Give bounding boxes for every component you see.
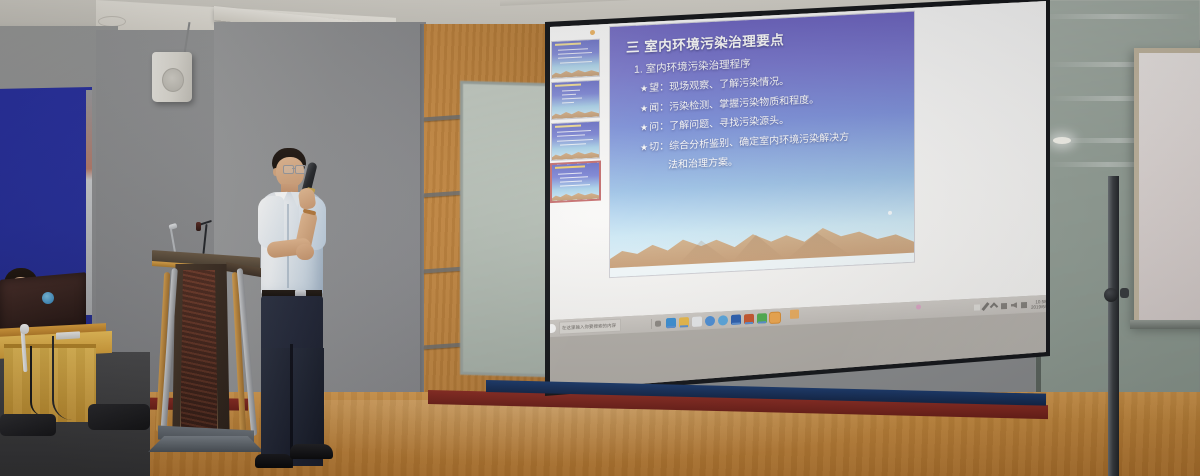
slide-bullet-list: ★望：现场观察、了解污染情况。 ★闻：污染检测、掌握污染物质和程度。 ★问：了解… [640, 66, 910, 177]
thumbnail-mountain-graphic [552, 108, 599, 119]
volume-icon[interactable] [1011, 302, 1017, 308]
taskbar-app-store[interactable] [692, 316, 702, 327]
slide-thumbnail-panel[interactable] [552, 40, 599, 292]
slide-thumbnail-4[interactable] [552, 163, 599, 201]
star-icon: ★ [640, 122, 648, 132]
taskbar-app-browser[interactable] [705, 315, 715, 326]
taskbar-app-powerpoint[interactable] [744, 313, 754, 324]
tray-hidden-icons[interactable] [974, 304, 980, 310]
banner-edge-strip [86, 90, 92, 315]
star-icon: ★ [640, 142, 648, 152]
glass-reflection-streak [1040, 14, 1190, 19]
chevron-up-icon[interactable] [990, 302, 998, 310]
laptop-logo-icon [42, 292, 54, 304]
presenter-leg-left [261, 348, 291, 466]
taskbar-app-list[interactable] [666, 312, 780, 328]
thumbnail-text-line [560, 184, 590, 187]
presenter-shoe-left [255, 454, 293, 468]
slide-thumbnail-2[interactable] [552, 81, 599, 119]
thumbnail-title-bar [555, 84, 581, 87]
taskbar-app-wechat[interactable] [757, 313, 767, 324]
bullet-text: 望：现场观察、了解污染情况。 [649, 76, 789, 94]
thumbnail-mountain-graphic [552, 149, 599, 160]
taskbar-tray[interactable]: 10:58 2019/6/19 [974, 298, 1050, 313]
taskbar-app-chrome[interactable] [718, 315, 728, 326]
thumbnail-mountain-graphic [552, 67, 599, 78]
bullet-text: 问：了解问题、寻找污染源头。 [649, 115, 789, 133]
bullet-text: 闻：污染检测、掌握污染物质和程度。 [649, 94, 819, 114]
eyeglass-lens-right [295, 165, 306, 174]
thumbnail-text-line [557, 134, 585, 137]
av-cable [52, 336, 76, 420]
thumbnail-text-line [560, 181, 582, 184]
thumbnail-title-bar [555, 165, 585, 169]
lecture-hall-scene: 三 室内环境污染治理要点 1. 室内环境污染治理程序 ★望：现场观察、了解污染情… [0, 0, 1200, 476]
thumbnail-text-line [558, 52, 592, 55]
taskbar-app-edge[interactable] [666, 317, 676, 328]
thumbnail-title-bar [555, 43, 581, 46]
slide-thumbnail-1[interactable] [552, 40, 599, 78]
taskbar-app-explorer[interactable] [679, 317, 689, 328]
thumbnail-text-line [562, 90, 580, 92]
task-view-icon[interactable] [655, 320, 661, 326]
whiteboard-adjust-knob[interactable] [1104, 288, 1118, 302]
whiteboard-stand-pole [1108, 176, 1119, 476]
star-icon: ★ [640, 103, 648, 113]
ime-icon[interactable] [1021, 301, 1027, 307]
ceiling-light-reflection [1053, 137, 1071, 144]
whiteboard-marker-tray [1130, 320, 1200, 329]
slide-sun-accent [888, 211, 892, 215]
thumbnail-text-line [562, 102, 574, 104]
thumbnail-text-line [557, 139, 593, 142]
frosted-glass-panel [460, 81, 552, 378]
speaker-cone-icon [162, 68, 184, 92]
thumbnail-text-line [562, 94, 576, 96]
thumbnail-text-line [560, 176, 588, 179]
presenter-shoe-right [290, 444, 333, 459]
wall-speaker [152, 52, 192, 102]
podium-front-panel [180, 270, 218, 444]
thumbnail-text-line [558, 57, 582, 60]
thumbnail-text-line [558, 173, 582, 176]
presenter [243, 148, 363, 468]
slide-subtitle: 1. 室内环境污染治理程序 [634, 56, 751, 77]
power-cable [30, 346, 50, 416]
star-icon: ★ [640, 83, 648, 93]
slide-title: 三 室内环境污染治理要点 [626, 28, 784, 56]
thumbnail-mountain-graphic [552, 190, 599, 201]
thumbnail-title-bar [555, 125, 581, 128]
network-icon[interactable] [1001, 302, 1007, 308]
eyeglass-lens-left [283, 165, 294, 174]
floor-equipment [0, 414, 56, 436]
thumbnail-text-line [560, 61, 592, 64]
floor-equipment [88, 404, 150, 430]
pen-icon[interactable] [981, 302, 989, 311]
thumbnail-text-line [557, 130, 591, 133]
taskbar-app-active[interactable] [770, 312, 780, 323]
thumbnail-text-line [558, 48, 588, 51]
taskbar-notification-badge[interactable] [790, 310, 799, 319]
taskbar-app-word[interactable] [731, 314, 741, 325]
thumbnail-text-line [562, 98, 582, 100]
table-microphone-head [20, 324, 29, 334]
whiteboard-bracket [1120, 288, 1129, 298]
taskbar-divider [651, 318, 652, 328]
presenter-hand-left [296, 244, 314, 260]
mobile-whiteboard [1134, 48, 1200, 328]
podium-microphone-head-black [196, 222, 201, 231]
eyeglasses-icon [283, 165, 304, 172]
slide-thumbnail-3[interactable] [552, 122, 599, 160]
thumbnail-text-line [560, 143, 586, 146]
search-input[interactable]: 在这里输入你要搜索的内容 [559, 319, 621, 335]
operator-table-front [4, 348, 96, 422]
current-slide[interactable]: 三 室内环境污染治理要点 1. 室内环境污染治理程序 ★望：现场观察、了解污染情… [610, 12, 914, 277]
